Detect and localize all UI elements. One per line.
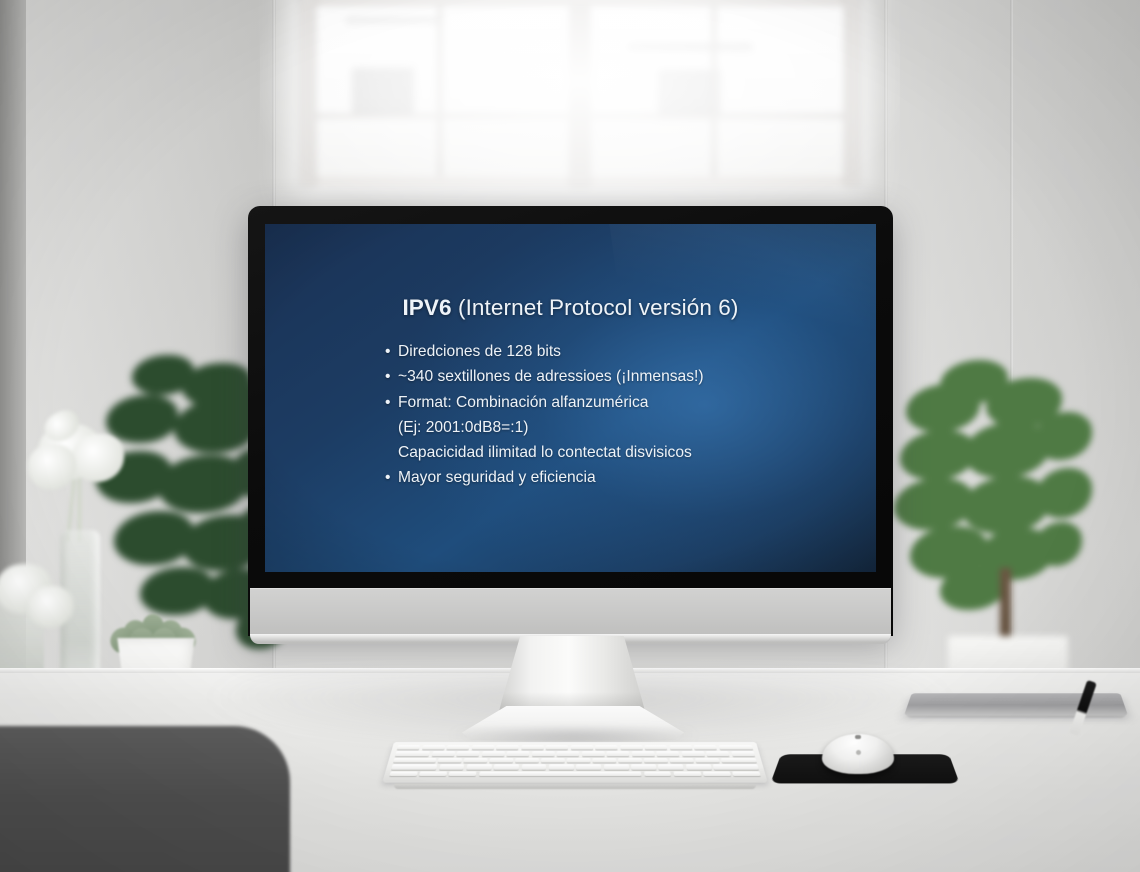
window-jamb-right [844, 0, 860, 186]
office-scene: IPV6 (Internet Protocol versión 6) • Dir… [0, 0, 1140, 872]
keyboard-row [395, 752, 755, 756]
slide-bullet-list: • Diredciones de 128 bits • ~340 sextill… [385, 339, 824, 491]
list-item: • ~340 sextillones de adressioes (¡Inmen… [385, 364, 824, 389]
window-reflection-c [628, 44, 752, 50]
keyboard-row [397, 745, 753, 749]
presentation-slide: IPV6 (Internet Protocol versión 6) • Dir… [265, 224, 876, 572]
bullet-icon: • [385, 465, 398, 490]
keyboard-row [391, 765, 758, 770]
keyboard[interactable] [382, 742, 768, 783]
window-reflection-b [352, 68, 414, 116]
list-item-sub: Capacicidad ilimitad lo contectat disvis… [385, 440, 824, 465]
list-item-label: ~340 sextillones de adressioes (¡Inmensa… [398, 364, 704, 389]
list-item: • Diredciones de 128 bits [385, 339, 824, 364]
list-item-label: (Ej: 2001:0dB8=:1) [398, 415, 528, 440]
office-chair[interactable] [0, 726, 290, 872]
window-transom-top [300, 0, 860, 6]
window-reflection-a [346, 18, 442, 23]
bullet-icon: • [385, 390, 398, 415]
flower-petal [28, 444, 76, 490]
potted-tree [900, 360, 1130, 690]
keyboard-rows [389, 745, 760, 776]
window-mullion-right [712, 0, 716, 176]
window-mullion-center [570, 0, 590, 186]
flower-petal [72, 434, 124, 482]
bullet-icon: • [385, 339, 398, 364]
slide-title: IPV6 (Internet Protocol versión 6) [317, 294, 824, 321]
window-reflection-d [658, 70, 720, 118]
list-item: • Mayor seguridad y eficiencia [385, 465, 824, 490]
list-item-label: Diredciones de 128 bits [398, 339, 561, 364]
keyboard-row [389, 771, 760, 776]
keyboard-front-lip [394, 784, 756, 789]
list-item-label: Mayor seguridad y eficiencia [398, 465, 596, 490]
list-item-label: Capacicidad ilimitad lo contectat disvis… [398, 440, 692, 465]
bullet-icon: • [385, 364, 398, 389]
window [300, 0, 860, 186]
monitor[interactable]: IPV6 (Internet Protocol versión 6) • Dir… [248, 206, 893, 636]
list-item: • Format: Combinación alfanzumérica [385, 390, 824, 415]
list-item-sub: (Ej: 2001:0dB8=:1) [385, 415, 824, 440]
monitor-screen[interactable]: IPV6 (Internet Protocol versión 6) • Dir… [265, 224, 876, 572]
list-item-label: Format: Combinación alfanzumérica [398, 390, 648, 415]
keyboard-row [393, 758, 757, 762]
window-transom-mid [314, 114, 846, 118]
slide-title-rest: (Internet Protocol versión 6) [452, 295, 739, 320]
mouse-scroll-seam [855, 735, 861, 739]
window-mullion-left [438, 0, 442, 176]
window-jamb-left [300, 0, 316, 186]
closed-laptop[interactable] [904, 693, 1128, 715]
mouse-button-marker [856, 750, 861, 755]
slide-title-bold: IPV6 [402, 295, 451, 320]
